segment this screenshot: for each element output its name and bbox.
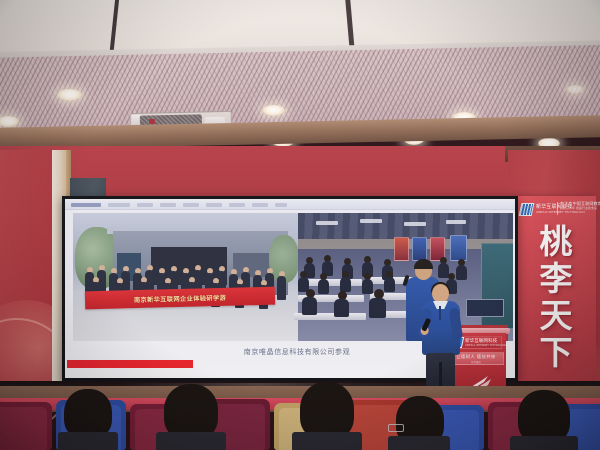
slide-caption: 南京唯晶信息科技有限公司参观 <box>177 347 417 357</box>
red-group-banner-text: 南京新华互联网企业体验研学游 <box>134 292 226 303</box>
eyeglasses-icon <box>388 424 404 432</box>
air-vent-indicator <box>149 119 155 124</box>
toolbar-chip <box>71 203 101 207</box>
toolbar-chip <box>252 203 268 207</box>
slide-photo-group-shot: 南京新华互联网企业体验研学游 <box>73 213 298 341</box>
classroom-light <box>446 220 466 224</box>
banner-char-3: 天 <box>540 298 573 334</box>
presenter-shirt-placket <box>439 306 441 320</box>
banner-logo-subtext: XINHUA INTERNET TECHNOLOGY <box>536 210 585 214</box>
vertical-banner: 新华互联网科技 XINHUA INTERNET TECHNOLOGY 专注专中国… <box>516 196 596 396</box>
audience-shoulder <box>388 436 450 450</box>
classroom-ceiling <box>298 213 513 239</box>
classroom-monitor <box>466 299 504 317</box>
banner-side-text-block: 专注专中国互联网教育 创新三十年 技赢行业新未来 <box>560 201 594 210</box>
student <box>340 277 351 292</box>
downlight <box>566 85 584 94</box>
student <box>456 265 467 280</box>
slide-accent-bar <box>67 360 193 368</box>
banner-char-1: 桃 <box>540 224 573 260</box>
banner-divider <box>557 202 558 215</box>
classroom-light <box>360 219 382 223</box>
toolbar-chip <box>229 203 245 207</box>
banner-char-2: 李 <box>540 261 573 297</box>
toolbar-chip <box>275 203 287 207</box>
classroom-desk <box>302 279 362 286</box>
podium-motto-subtext: 新华教育 <box>471 360 481 364</box>
toolbar-chip <box>206 203 222 207</box>
downlight <box>57 89 82 101</box>
audience-front-row <box>0 392 600 450</box>
audience-shoulder <box>156 432 226 450</box>
audience-shoulder <box>58 432 118 450</box>
wall-poster <box>412 237 427 261</box>
audience-shoulder <box>510 436 578 450</box>
slide-photo-classroom <box>298 213 513 341</box>
student <box>369 298 386 318</box>
wall-poster <box>394 237 409 261</box>
photograph-auditorium-scene: 新华互联网科技 XINHUA INTERNET TECHNOLOGY 专注专中国… <box>0 0 600 450</box>
podium-logo-subtext: XINHUA INTERNET TECHNOLOGY <box>465 344 507 347</box>
toolbar-chip <box>108 203 130 207</box>
slide-toolbar-strip <box>65 201 515 210</box>
xinhua-logo-icon <box>519 203 535 216</box>
podium-logo-text-block: 新华互联网科技 XINHUA INTERNET TECHNOLOGY <box>465 339 507 347</box>
classroom-speaker-hair <box>414 259 433 269</box>
wall-poster <box>450 235 467 261</box>
banner-side-subtext: 创新三十年 技赢行业新未来 <box>560 206 594 210</box>
student <box>318 279 329 294</box>
classroom-light <box>404 222 426 226</box>
student <box>302 297 317 315</box>
downlight <box>262 105 285 116</box>
presenter-person <box>420 284 462 390</box>
student <box>334 299 349 317</box>
student <box>362 279 373 294</box>
audience-shoulder <box>292 432 362 450</box>
banner-characters: 桃 李 天 下 <box>516 224 596 371</box>
banner-char-4: 下 <box>540 335 573 371</box>
toolbar-chip <box>137 203 153 207</box>
toolbar-chip <box>160 203 176 207</box>
toolbar-chip <box>183 203 199 207</box>
student <box>384 277 395 292</box>
classroom-light <box>316 221 338 225</box>
